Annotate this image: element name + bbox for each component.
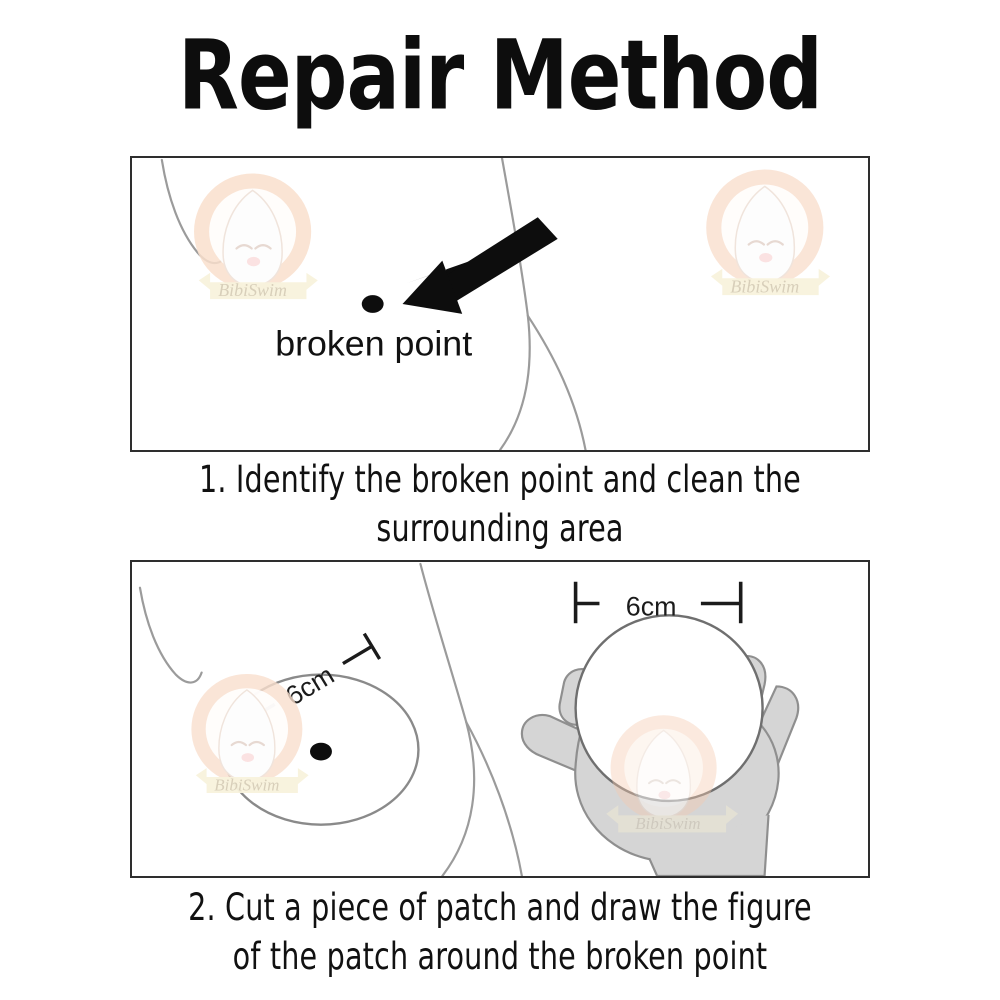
watermark-logo-icon: BibiSwim <box>194 173 318 300</box>
step-2-caption-line-1: 2. Cut a piece of patch and draw the fig… <box>70 884 930 933</box>
watermark-brand-text: BibiSwim <box>214 775 279 794</box>
page-title: Repair Method <box>40 28 960 124</box>
panel-1-illustration: BibiSwim BibiSwim brok <box>132 158 868 450</box>
panel-cut-and-draw-patch: 6cm BibiSwim <box>130 560 870 878</box>
watermark-brand-text: BibiSwim <box>635 814 701 833</box>
dimension-6cm-right-text: 6cm <box>626 591 677 621</box>
watermark-brand-text: BibiSwim <box>730 276 799 296</box>
step-2-caption: 2. Cut a piece of patch and draw the fig… <box>70 884 930 982</box>
repair-method-infographic: Repair Method BibiSwim <box>0 0 1000 1000</box>
step-1-caption-line-1: 1. Identify the broken point and clean t… <box>70 456 930 505</box>
step-2-caption-line-2: of the patch around the broken point <box>70 933 930 982</box>
broken-point-label: broken point <box>275 323 472 363</box>
panel-identify-broken-point: BibiSwim BibiSwim brok <box>130 156 870 452</box>
watermark-brand-text: BibiSwim <box>218 280 287 300</box>
broken-point-dot <box>362 295 384 313</box>
pointer-arrow-icon <box>403 217 558 314</box>
broken-point-dot <box>310 743 332 761</box>
step-1-caption-line-2: surrounding area <box>70 505 930 554</box>
dimension-6cm-right: 6cm <box>576 582 741 623</box>
step-1-caption: 1. Identify the broken point and clean t… <box>70 456 930 554</box>
watermark-logo-icon: BibiSwim <box>706 170 830 297</box>
panel-2-illustration: 6cm BibiSwim <box>132 562 868 876</box>
